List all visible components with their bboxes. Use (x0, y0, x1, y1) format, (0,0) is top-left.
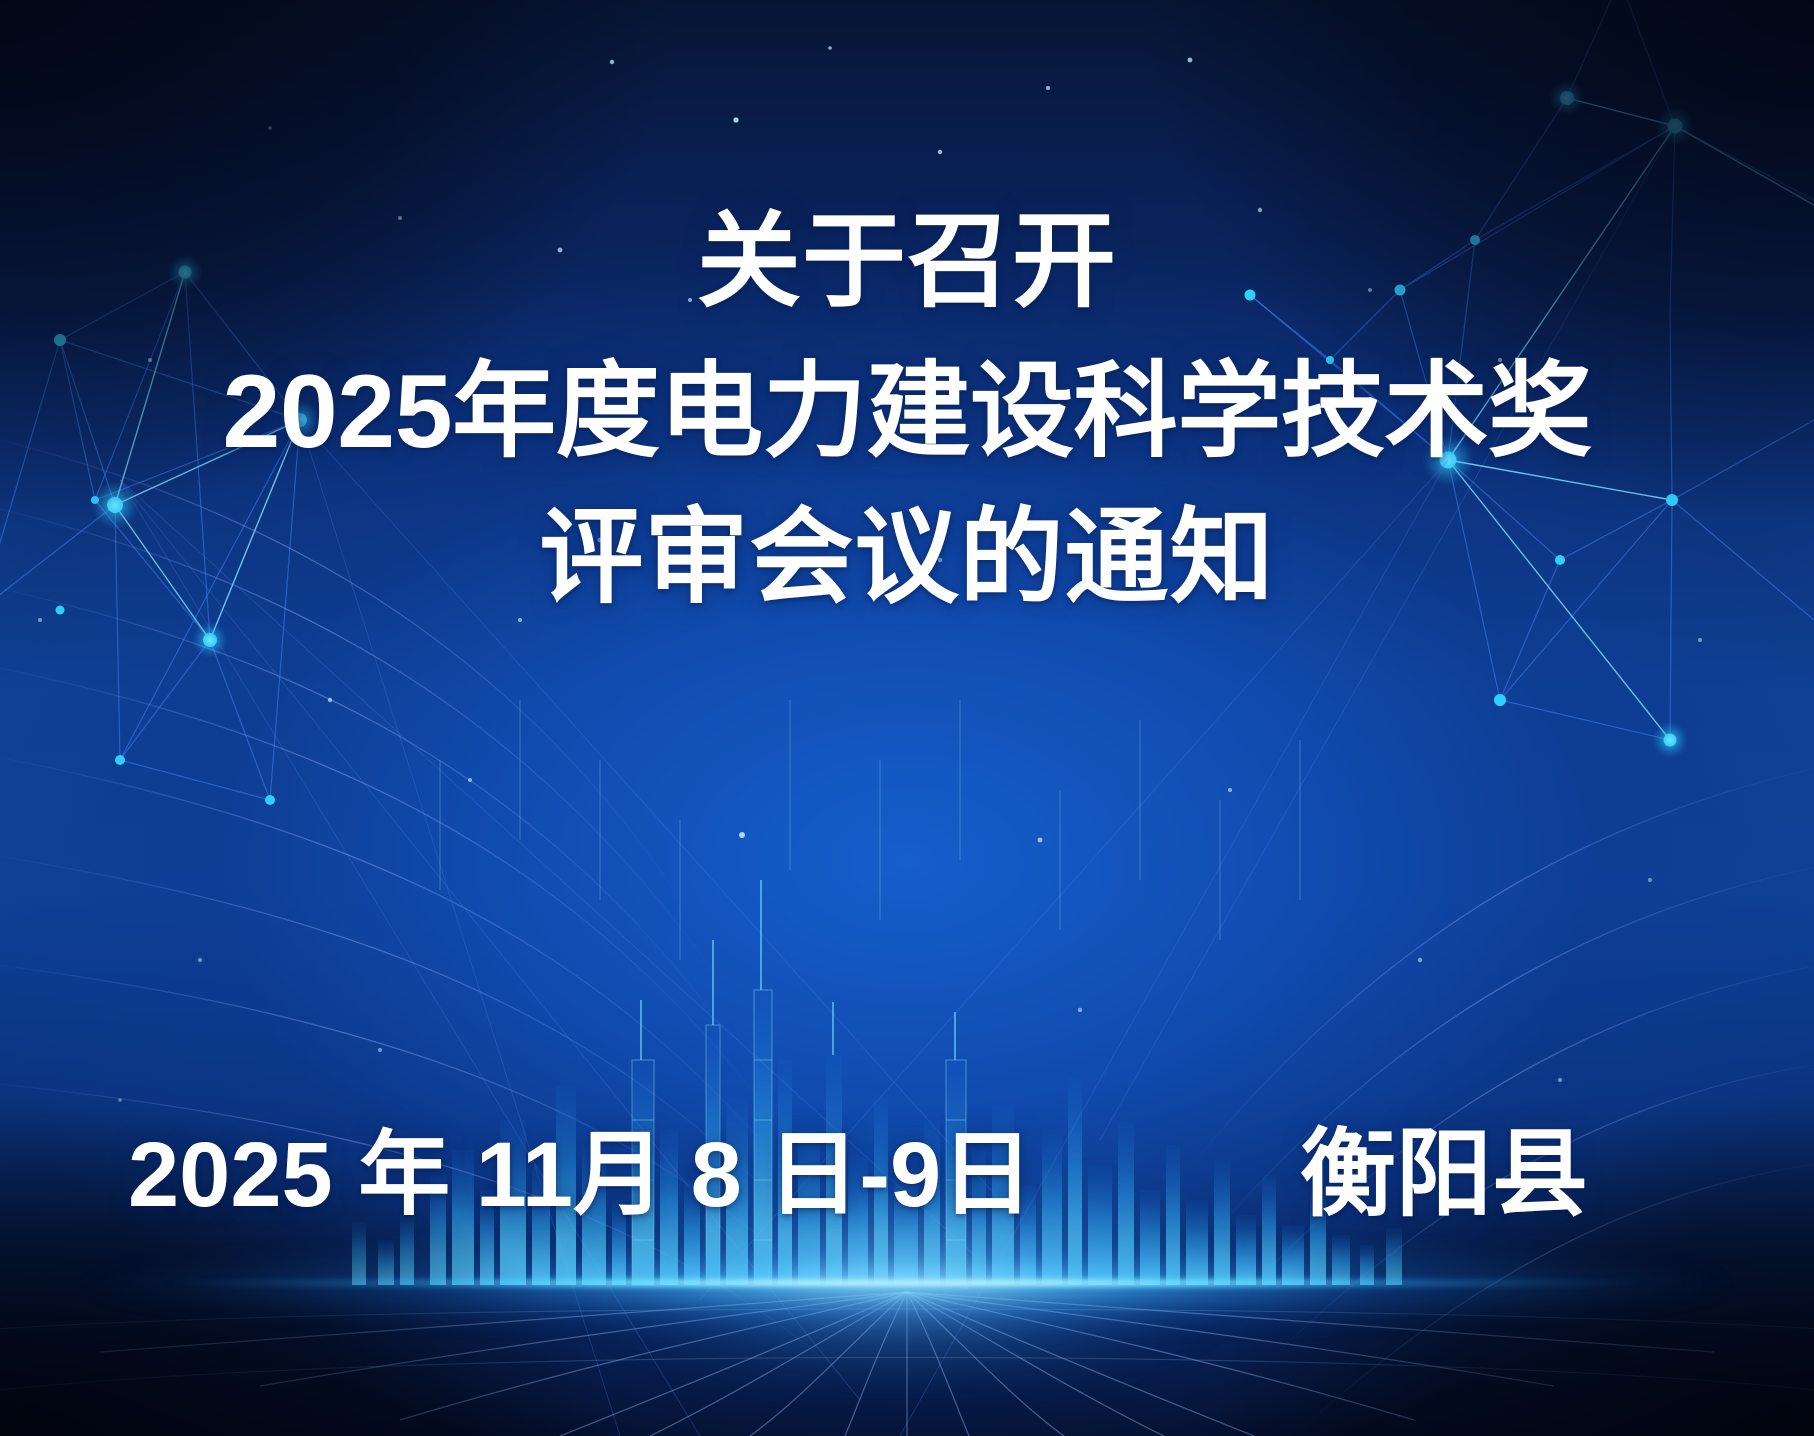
title-line-3: 评审会议的通知 (0, 494, 1814, 622)
event-location: 衡阳县 (1300, 1120, 1588, 1230)
event-date: 2025 年 11月 8 日-9日 (128, 1120, 1033, 1230)
poster-canvas: 关于召开 2025年度电力建设科学技术奖 评审会议的通知 2025 年 11月 … (0, 0, 1814, 1436)
horizon-light-burst (157, 1276, 1657, 1290)
title-line-2: 2025年度电力建设科学技术奖 (0, 348, 1814, 476)
poster-footer: 2025 年 11月 8 日-9日 衡阳县 (0, 1120, 1814, 1230)
poster-title: 关于召开 2025年度电力建设科学技术奖 评审会议的通知 (0, 198, 1814, 622)
data-streaks (440, 700, 1300, 960)
title-line-1: 关于召开 (0, 198, 1814, 326)
